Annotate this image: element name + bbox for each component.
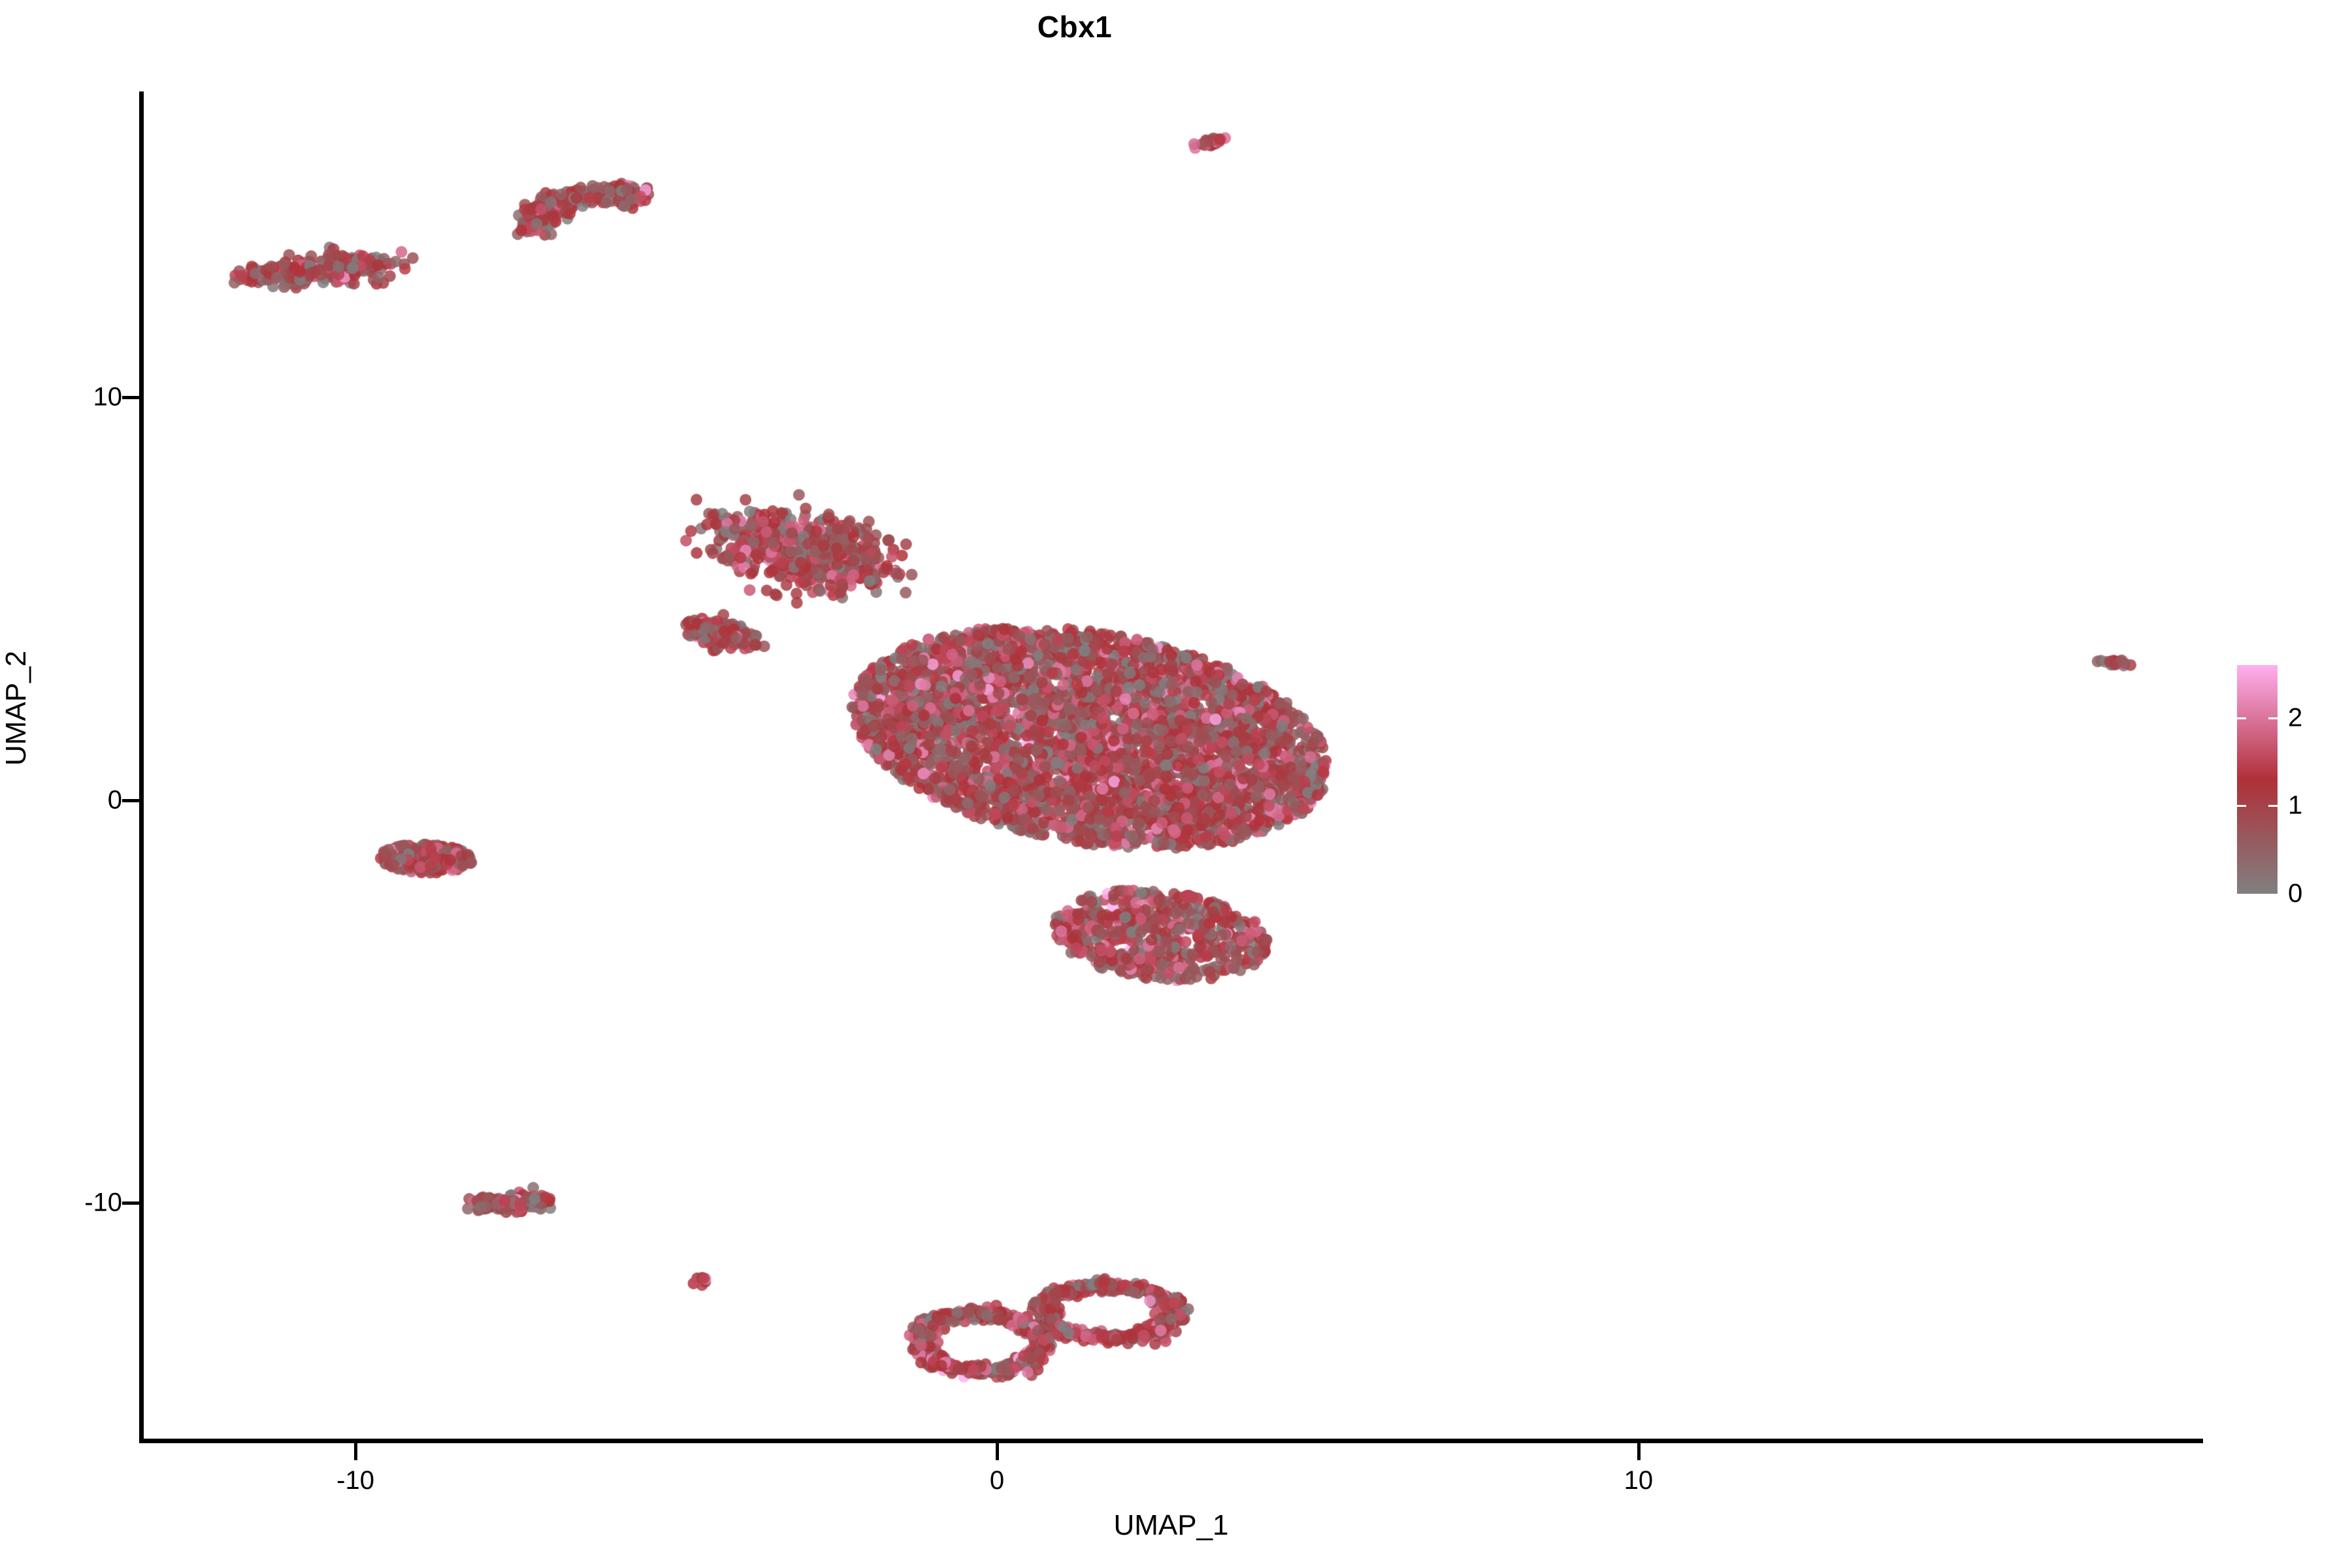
legend-tick-label: 2	[2288, 703, 2302, 732]
y-tick-label: 0	[108, 785, 122, 815]
y-axis-title: UMAP_2	[0, 651, 33, 766]
x-axis-line	[139, 1439, 2203, 1443]
y-tick-mark	[122, 1201, 139, 1205]
x-tick-mark	[996, 1443, 999, 1460]
x-tick-label: 0	[990, 1466, 1004, 1495]
umap-feature-plot: Cbx1 -10010 -10010 UMAP_1 UMAP_2 012	[0, 0, 2352, 1568]
plot-panel	[144, 91, 2203, 1441]
y-tick-label: -10	[84, 1188, 122, 1218]
legend-tick-label: 0	[2288, 879, 2302, 909]
scatter-points-canvas	[144, 91, 2203, 1441]
legend-tick-inner	[2237, 805, 2246, 807]
y-tick-mark	[122, 799, 139, 802]
legend-tick-mark	[2237, 717, 2278, 719]
x-tick-label: -10	[336, 1466, 374, 1495]
legend-tick-inner	[2237, 717, 2246, 719]
legend-colorbar	[2237, 665, 2278, 894]
legend-tick-mark	[2237, 805, 2278, 807]
x-tick-mark	[1637, 1443, 1641, 1460]
x-tick-mark	[354, 1443, 357, 1460]
y-axis-line	[139, 91, 144, 1443]
y-tick-label: 10	[93, 383, 123, 412]
page-title: Cbx1	[0, 9, 2149, 44]
legend-tick-inner	[2268, 805, 2278, 807]
color-legend[interactable]: 012	[2237, 665, 2342, 894]
y-tick-mark	[122, 396, 139, 399]
legend-tick-label: 1	[2288, 791, 2302, 821]
legend-tick-inner	[2268, 717, 2278, 719]
x-axis-title: UMAP_1	[139, 1509, 2203, 1542]
x-tick-label: 10	[1624, 1466, 1654, 1495]
